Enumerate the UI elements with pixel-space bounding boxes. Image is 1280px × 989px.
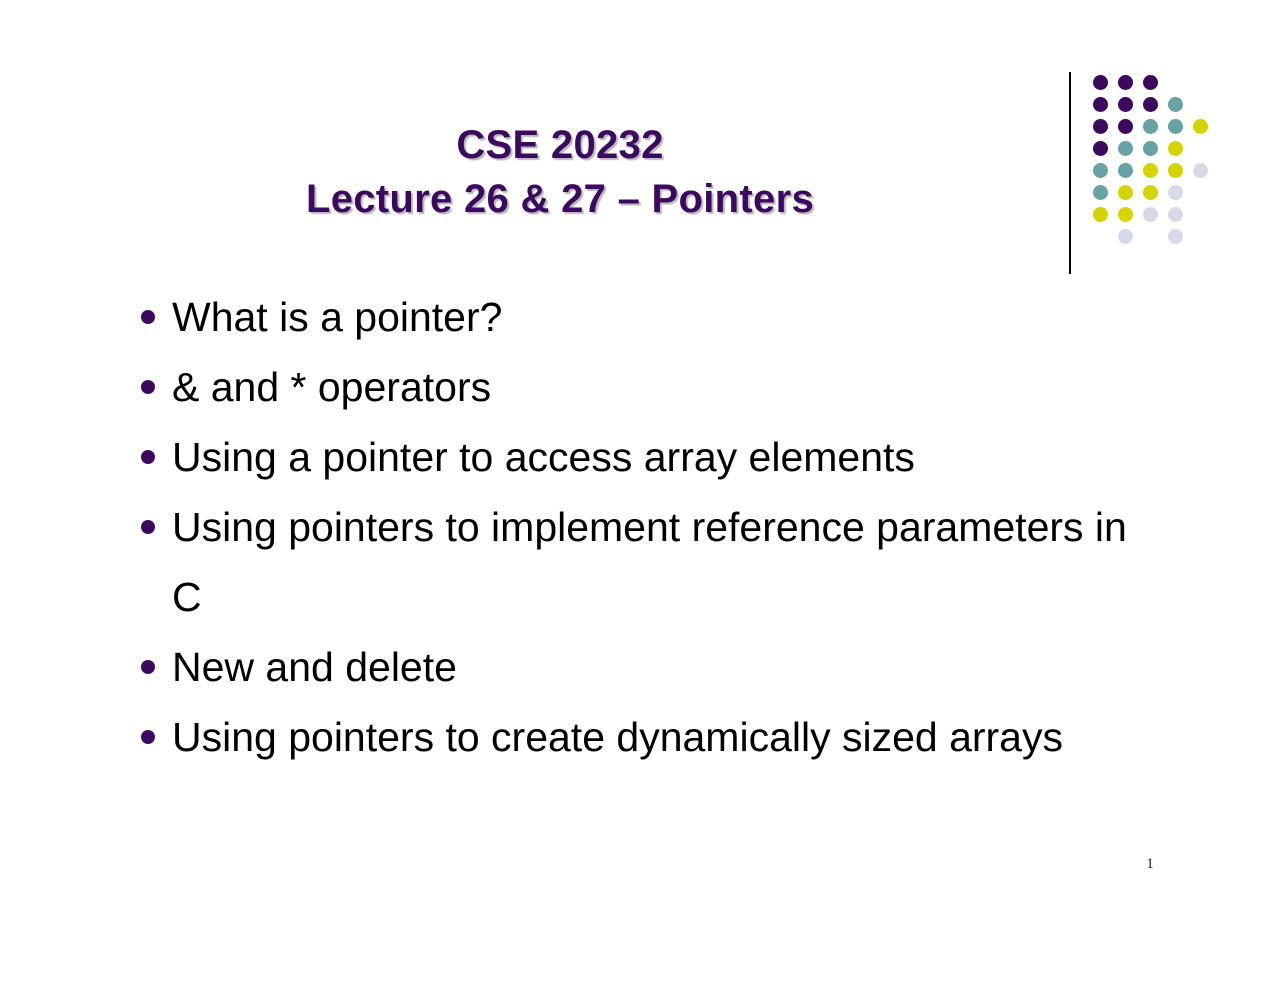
logo-dot-purple bbox=[1118, 75, 1133, 90]
logo-dot-yellow bbox=[1193, 119, 1208, 134]
logo-dot-yellow bbox=[1118, 185, 1133, 200]
logo-dot-yellow bbox=[1168, 163, 1183, 178]
logo-dot-lavender bbox=[1193, 163, 1208, 178]
bullet-item: & and * operators bbox=[128, 352, 1128, 422]
bullet-item-label: New and delete bbox=[172, 632, 1128, 702]
logo-dot-yellow bbox=[1168, 141, 1183, 156]
logo-dot-teal bbox=[1118, 163, 1133, 178]
bullet-list: What is a pointer?& and * operatorsUsing… bbox=[128, 282, 1128, 772]
bullet-item: Using a pointer to access array elements bbox=[128, 422, 1128, 492]
bullet-item-label: Using pointers to implement reference pa… bbox=[172, 492, 1128, 632]
logo-dot-purple bbox=[1093, 97, 1108, 112]
logo-dot-yellow bbox=[1093, 207, 1108, 222]
logo-dot-lavender bbox=[1168, 207, 1183, 222]
logo-dot-teal bbox=[1168, 119, 1183, 134]
logo-dot-teal bbox=[1168, 97, 1183, 112]
logo-dot-teal bbox=[1143, 119, 1158, 134]
page-number: 1 bbox=[1120, 856, 1180, 873]
logo-dot-yellow bbox=[1118, 207, 1133, 222]
bullet-dot-icon bbox=[141, 380, 155, 394]
logo-dot-purple bbox=[1118, 97, 1133, 112]
bullet-dot-icon bbox=[141, 660, 155, 674]
logo-dot-purple bbox=[1093, 119, 1108, 134]
bullet-item: New and delete bbox=[128, 632, 1128, 702]
bullet-dot-icon bbox=[141, 730, 155, 744]
logo-dot-purple bbox=[1143, 97, 1158, 112]
logo-dot-purple bbox=[1093, 141, 1108, 156]
dot-grid-icon bbox=[1060, 60, 1220, 285]
logo-dot-yellow bbox=[1143, 163, 1158, 178]
bullet-item: Using pointers to implement reference pa… bbox=[128, 492, 1128, 632]
title-line-lecture: Lecture 26 & 27 – Pointers bbox=[120, 172, 1000, 226]
bullet-item: What is a pointer? bbox=[128, 282, 1128, 352]
logo-dot-purple bbox=[1093, 75, 1108, 90]
logo-dot-teal bbox=[1143, 141, 1158, 156]
bullet-item-label: What is a pointer? bbox=[172, 282, 1128, 352]
bullet-item: Using pointers to create dynamically siz… bbox=[128, 702, 1128, 772]
bullet-dot-icon bbox=[141, 450, 155, 464]
logo-dot-teal bbox=[1093, 185, 1108, 200]
bullet-item-label: & and * operators bbox=[172, 352, 1128, 422]
slide-title: CSE 20232 Lecture 26 & 27 – Pointers bbox=[120, 118, 1000, 226]
bullet-item-label: Using pointers to create dynamically siz… bbox=[172, 702, 1128, 772]
logo-dot-yellow bbox=[1143, 185, 1158, 200]
logo bbox=[1060, 60, 1220, 285]
logo-dot-lavender bbox=[1168, 185, 1183, 200]
logo-dot-teal bbox=[1093, 163, 1108, 178]
logo-dot-purple bbox=[1143, 75, 1158, 90]
logo-dot-lavender bbox=[1143, 207, 1158, 222]
logo-dot-teal bbox=[1118, 141, 1133, 156]
bullet-item-label: Using a pointer to access array elements bbox=[172, 422, 1128, 492]
logo-dot-lavender bbox=[1118, 229, 1133, 244]
logo-dot-purple bbox=[1118, 119, 1133, 134]
logo-dot-lavender bbox=[1168, 229, 1183, 244]
bullet-dot-icon bbox=[141, 310, 155, 324]
slide-canvas: CSE 20232 Lecture 26 & 27 – Pointers Wha… bbox=[0, 0, 1280, 989]
bullet-dot-icon bbox=[141, 520, 155, 534]
title-line-course: CSE 20232 bbox=[120, 118, 1000, 172]
